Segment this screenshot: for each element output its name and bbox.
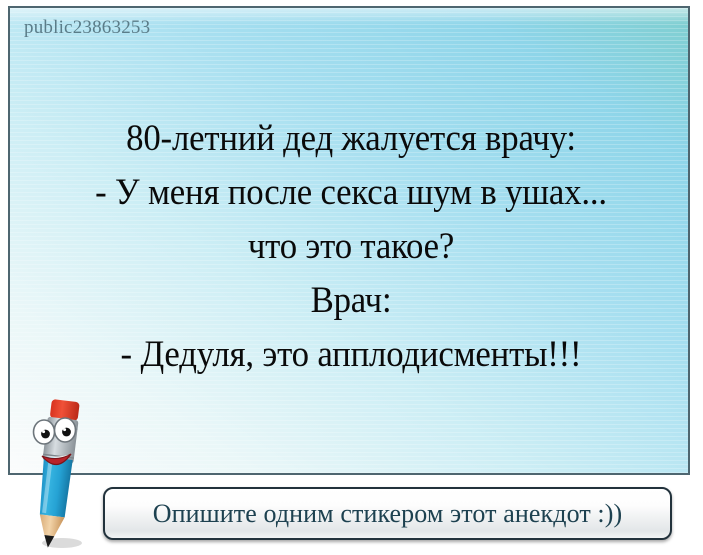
joke-line-4: Врач: — [30, 274, 671, 328]
joke-line-1: 80-летний дед жалуется врачу: — [30, 112, 671, 166]
joke-card: public23863253 80-летний дед жалуется вр… — [8, 6, 690, 475]
joke-line-3: что это такое? — [30, 220, 671, 274]
caption-bar[interactable]: Опишите одним стикером этот анекдот :)) — [103, 487, 672, 540]
smiling-pencil-mascot — [16, 396, 96, 550]
caption-text: Опишите одним стикером этот анекдот :)) — [153, 499, 623, 529]
joke-line-2: - У меня после секса шум в ушах... — [30, 166, 671, 220]
poster-page: public23863253 80-летний дед жалуется вр… — [0, 0, 703, 550]
joke-text-block: 80-летний дед жалуется врачу: - У меня п… — [10, 112, 690, 382]
pencil-wood-cone — [37, 514, 64, 537]
pencil-body — [37, 456, 73, 517]
joke-line-5: - Дедуля, это апплодисменты!!! — [30, 328, 671, 382]
watermark-label: public23863253 — [24, 17, 150, 39]
